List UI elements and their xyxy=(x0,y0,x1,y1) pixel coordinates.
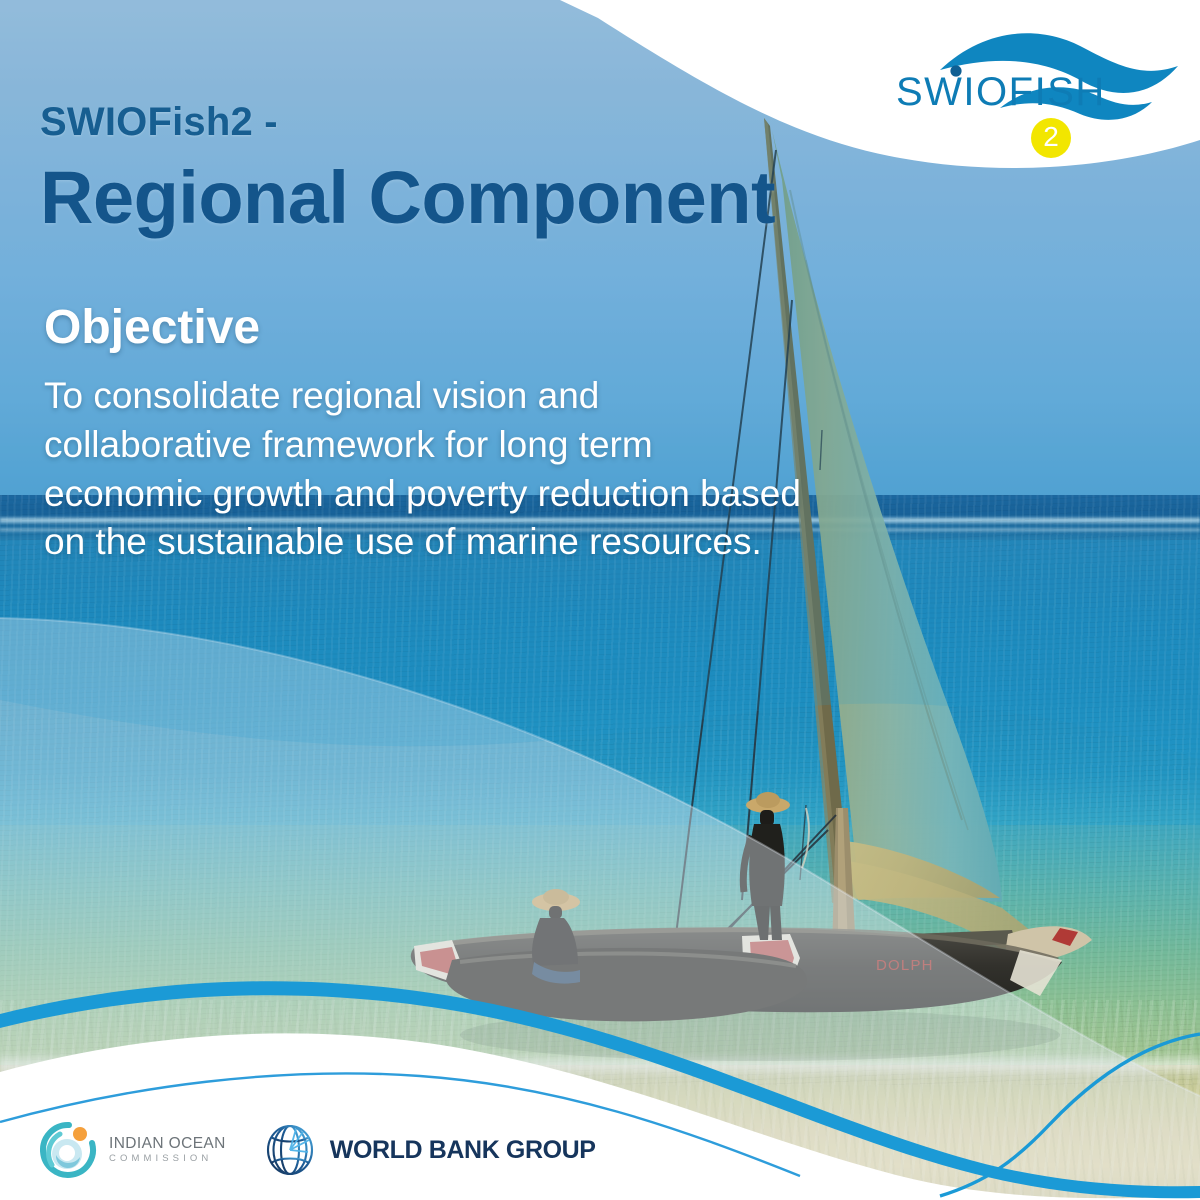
ioc-label-line1: INDIAN OCEAN xyxy=(109,1136,226,1152)
ioc-label-line2: COMMISSION xyxy=(109,1154,226,1164)
world-bank-globe-icon xyxy=(262,1122,318,1178)
ioc-mark-icon xyxy=(40,1121,98,1179)
world-bank-group-logo[interactable]: WORLD BANK GROUP xyxy=(262,1122,596,1178)
footer-wave-decoration xyxy=(0,0,1200,1200)
indian-ocean-commission-logo[interactable]: INDIAN OCEAN COMMISSION xyxy=(40,1121,226,1179)
poster-canvas: DOLPH SWIOFish2 - Regional Component Obj… xyxy=(0,0,1200,1200)
world-bank-wordmark: WORLD BANK GROUP xyxy=(330,1136,596,1165)
footer-logos: INDIAN OCEAN COMMISSION xyxy=(40,1112,596,1188)
